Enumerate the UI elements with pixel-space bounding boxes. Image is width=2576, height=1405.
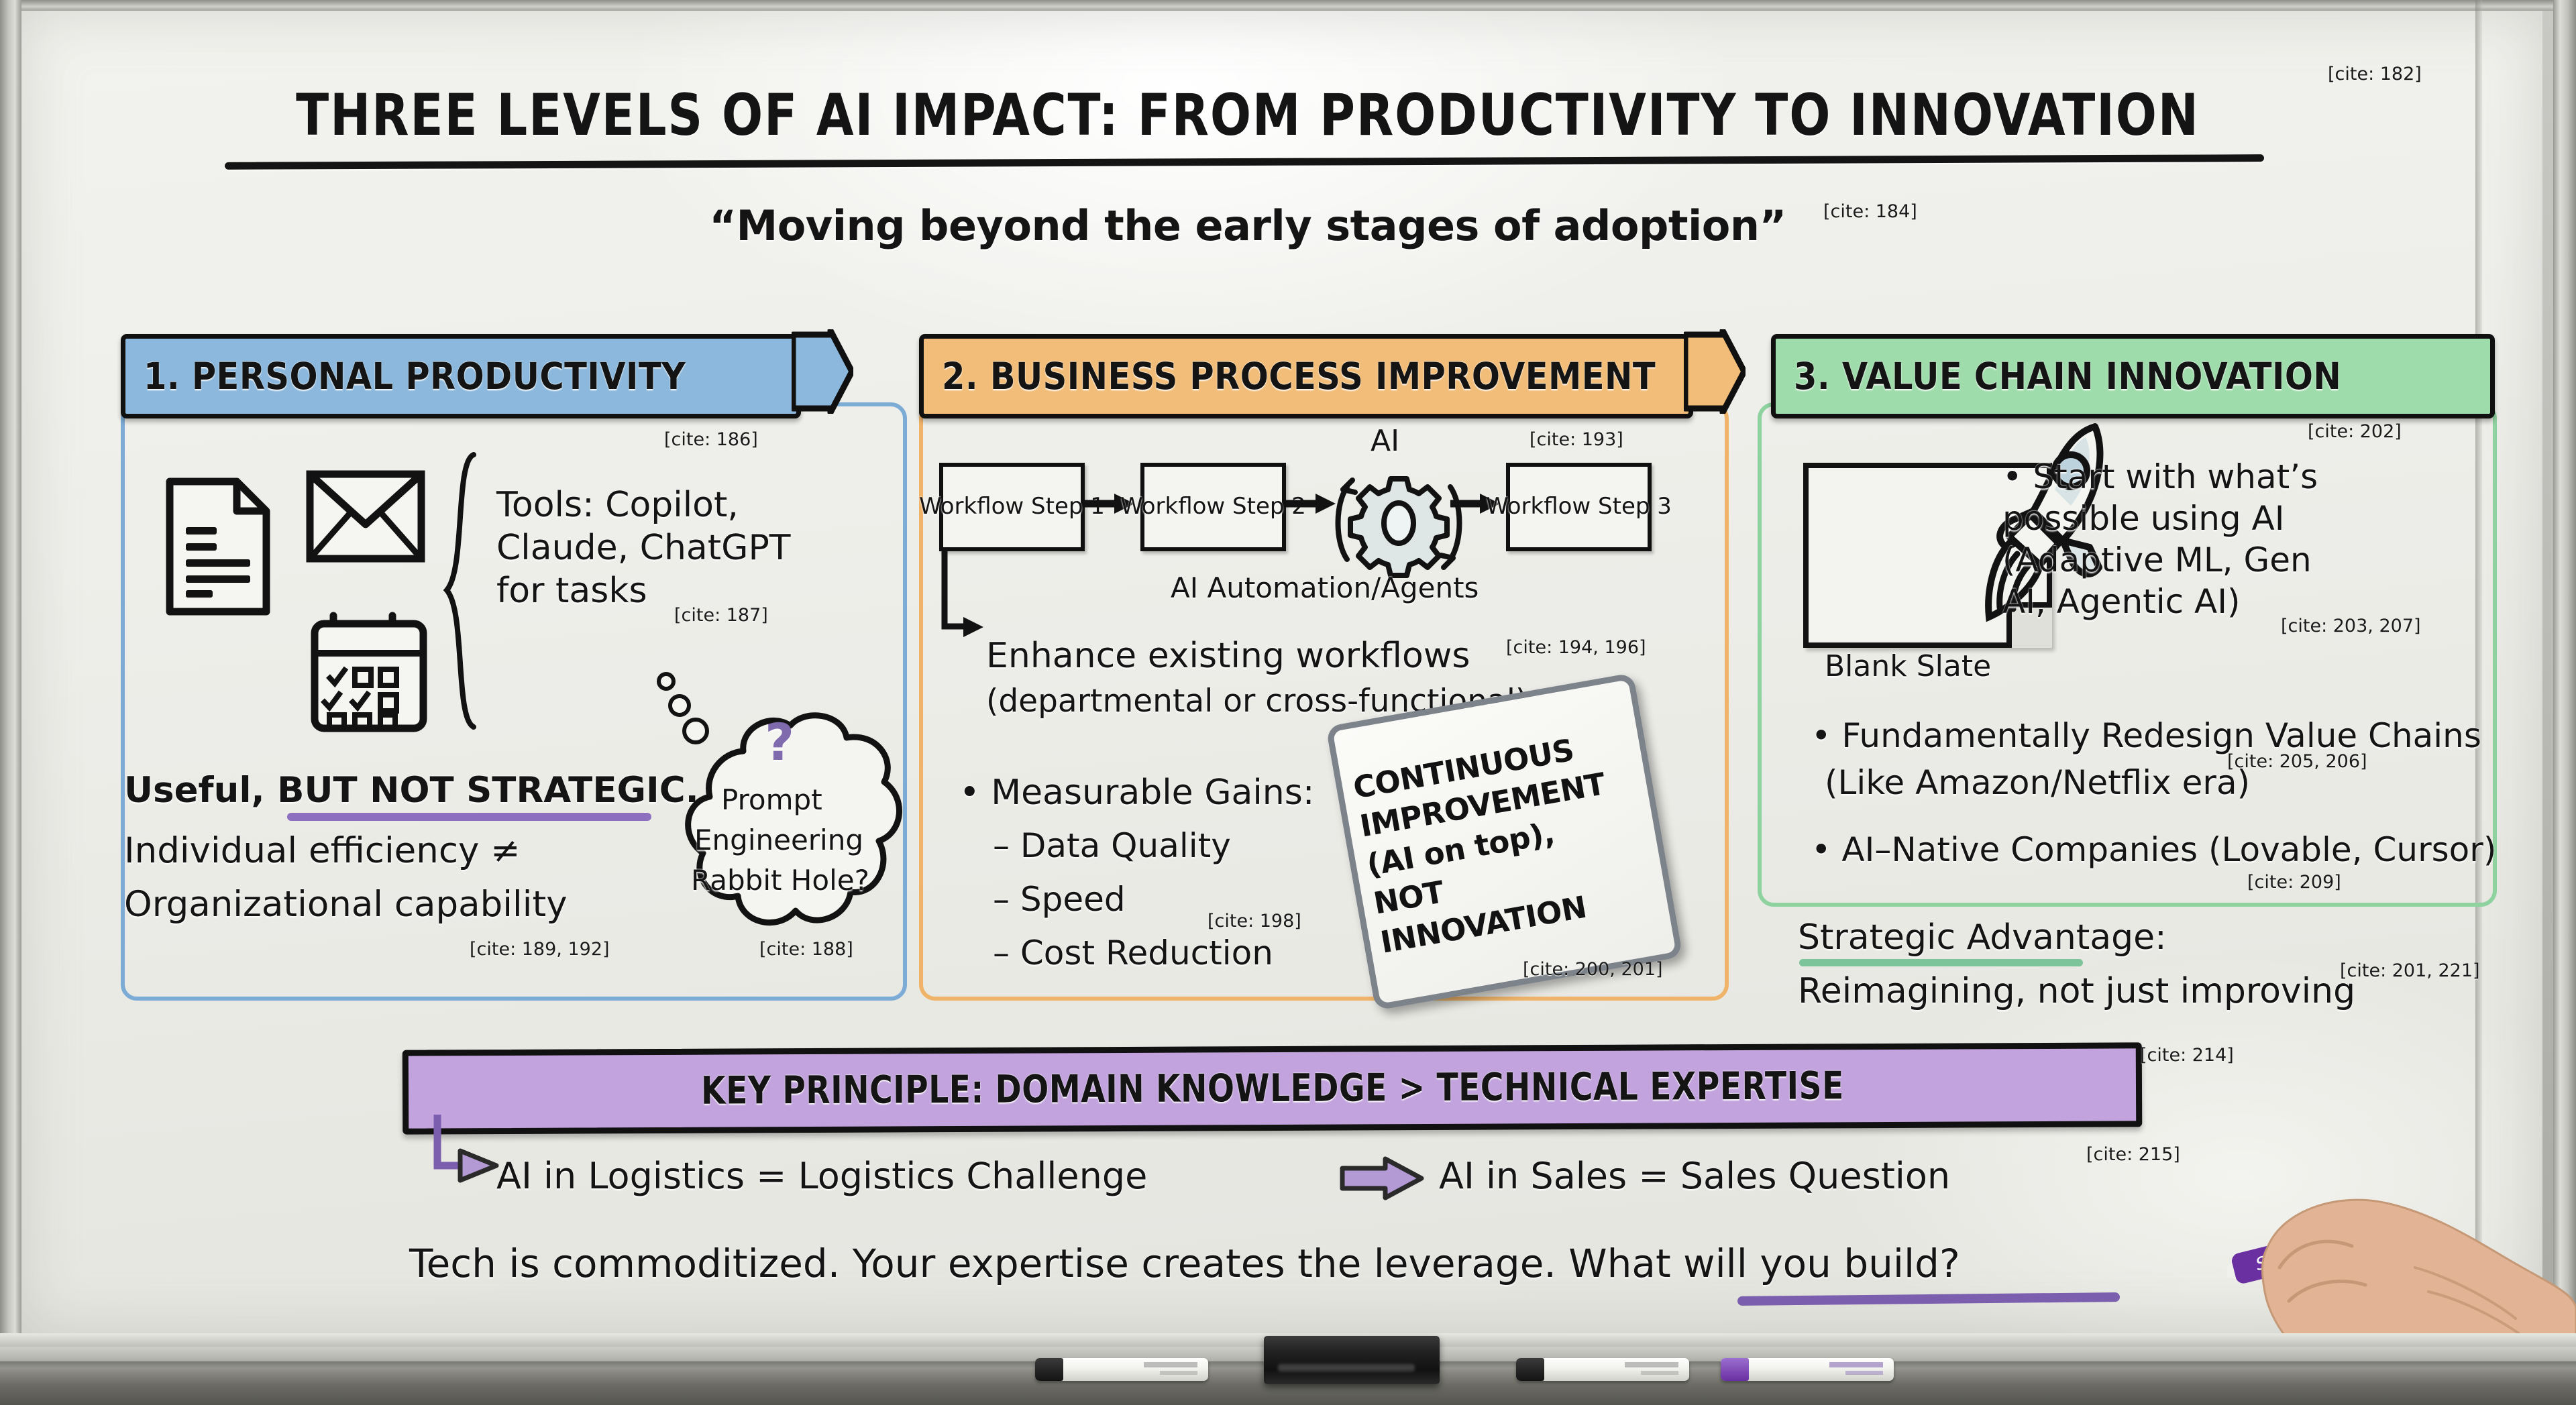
subtitle: “Moving beyond the early stages of adopt… [221, 201, 2274, 250]
arrow-head-1 [792, 329, 853, 414]
marker-band-2 [1641, 1371, 1678, 1375]
header-label-3: 3. VALUE CHAIN INNOVATION [1776, 355, 2341, 398]
key-principle-banner[interactable]: KEY PRINCIPLE: DOMAIN KNOWLEDGE > TECHNI… [402, 1042, 2143, 1134]
curly-brace-icon [443, 451, 490, 732]
useful-not-strategic-line: Useful, BUT NOT STRATEGIC. [124, 770, 699, 811]
header-label-1: 1. PERSONAL PRODUCTIVITY [125, 355, 686, 398]
gain-item-2: – Speed [993, 880, 1126, 919]
green-underline-strategic-advantage [1799, 959, 2083, 966]
ai-label: AI [1371, 424, 1399, 458]
citation-198: [cite: 198] [1207, 911, 1301, 932]
useful-prefix: Useful, [124, 770, 277, 811]
whiteboard-left-edge [0, 0, 21, 1341]
closing-statement: Tech is commoditized. Your expertise cre… [409, 1241, 1960, 1286]
arrow-head-2 [1684, 329, 1746, 414]
citation-187: [cite: 187] [674, 605, 768, 626]
marker-cap-black-1 [1035, 1358, 1063, 1381]
document-icon [164, 476, 272, 617]
thought-line-3: Rabbit Hole? [691, 864, 869, 897]
header-value-chain[interactable]: 3. VALUE CHAIN INNOVATION [1771, 334, 2495, 418]
strategic-advantage-text: Reimagining, not just improving [1798, 971, 2355, 1011]
marker-band [1829, 1362, 1883, 1367]
marker-band-2 [1160, 1371, 1197, 1375]
marker-cap-black-2 [1516, 1358, 1544, 1381]
blank-slate-label: Blank Slate [1825, 649, 1991, 683]
arrow-right-icon-2 [1285, 492, 1338, 516]
workflow-step-2: Workflow Step 2 [1140, 463, 1286, 551]
useful-emphasis: BUT NOT STRATEGIC. [277, 770, 699, 811]
citation-205-206: [cite: 205, 206] [2227, 751, 2367, 772]
page-title: THREE LEVELS OF AI IMPACT: FROM PRODUCTI… [293, 82, 2202, 149]
purple-underline-strategic [287, 813, 651, 821]
citation-215: [cite: 215] [2086, 1144, 2180, 1165]
calendar-checklist-icon [305, 604, 433, 738]
example-logistics: AI in Logistics = Logistics Challenge [496, 1155, 1147, 1197]
citation-189-192: [cite: 189, 192] [470, 939, 610, 960]
gain-item-3: – Cost Reduction [993, 934, 1273, 972]
marker-cap-purple [1721, 1358, 1749, 1381]
citation-202: [cite: 202] [2308, 421, 2402, 442]
gear-icon [1335, 463, 1462, 583]
arrow-right-icon-purple [1338, 1155, 1426, 1202]
header-business-process[interactable]: 2. BUSINESS PROCESS IMPROVEMENT [919, 334, 1693, 418]
inequality-line-1: Individual efficiency ≠ [124, 830, 521, 871]
workflow-step-1: Workflow Step 1 [939, 463, 1085, 551]
citation-201-221: [cite: 201, 221] [2340, 960, 2480, 981]
header-label-2: 2. BUSINESS PROCESS IMPROVEMENT [924, 355, 1656, 398]
elbow-arrow-icon-1 [939, 549, 986, 649]
whiteboard-top-edge [0, 0, 2576, 11]
enhance-line-1: Enhance existing workflows [986, 636, 1470, 676]
value-chain-bullet-3: • AI–Native Companies (Lovable, Cursor) [1811, 830, 2496, 869]
question-mark-icon: ? [765, 712, 794, 772]
ai-automation-caption: AI Automation/Agents [1171, 571, 1479, 604]
elbow-arrow-icon-purple [429, 1113, 503, 1200]
marker-purple[interactable] [1721, 1358, 1894, 1381]
whiteboard-eraser[interactable] [1264, 1336, 1440, 1384]
citation-subtitle: [cite: 184] [1823, 201, 1917, 222]
citation-214: [cite: 214] [2140, 1045, 2234, 1066]
thought-line-2: Engineering [694, 824, 863, 856]
measurable-gains-header: • Measurable Gains: [959, 773, 1314, 813]
whiteboard-right-edge [2553, 0, 2576, 1341]
citation-209: [cite: 209] [2247, 872, 2341, 893]
thought-line-1: Prompt [721, 783, 822, 816]
value-chain-bullet-1: • Start with what’s possible using AI (A… [2002, 456, 2365, 622]
marker-band [1144, 1362, 1197, 1367]
citation-203-207: [cite: 203, 207] [2281, 616, 2421, 636]
citation-193: [cite: 193] [1529, 429, 1623, 450]
header-personal-productivity[interactable]: 1. PERSONAL PRODUCTIVITY [121, 334, 801, 418]
inequality-line-2: Organizational capability [124, 884, 568, 925]
citation-200-201: [cite: 200, 201] [1523, 959, 1663, 980]
marker-band-2 [1845, 1371, 1883, 1375]
key-principle-label: KEY PRINCIPLE: DOMAIN KNOWLEDGE > TECHNI… [701, 1064, 1844, 1113]
marker-black-2[interactable] [1516, 1358, 1689, 1381]
marker-band [1625, 1362, 1678, 1367]
gain-item-1: – Data Quality [993, 826, 1231, 865]
envelope-icon [305, 469, 426, 563]
example-sales: AI in Sales = Sales Question [1439, 1155, 1950, 1197]
value-chain-bullet-2-line-1: • Fundamentally Redesign Value Chains [1811, 716, 2481, 755]
tools-text: Tools: Copilot, Claude, ChatGPT for task… [496, 484, 812, 613]
citation-188: [cite: 188] [759, 939, 853, 960]
workflow-step-3: Workflow Step 3 [1506, 463, 1652, 551]
value-chain-bullet-2-line-2: (Like Amazon/Netflix era) [1825, 763, 2250, 802]
citation-title: [cite: 182] [2328, 64, 2422, 85]
citation-194-196: [cite: 194, 196] [1506, 637, 1646, 658]
strategic-advantage-label: Strategic Advantage: [1798, 917, 2167, 958]
citation-186: [cite: 186] [664, 429, 758, 450]
marker-black-1[interactable] [1035, 1358, 1208, 1381]
